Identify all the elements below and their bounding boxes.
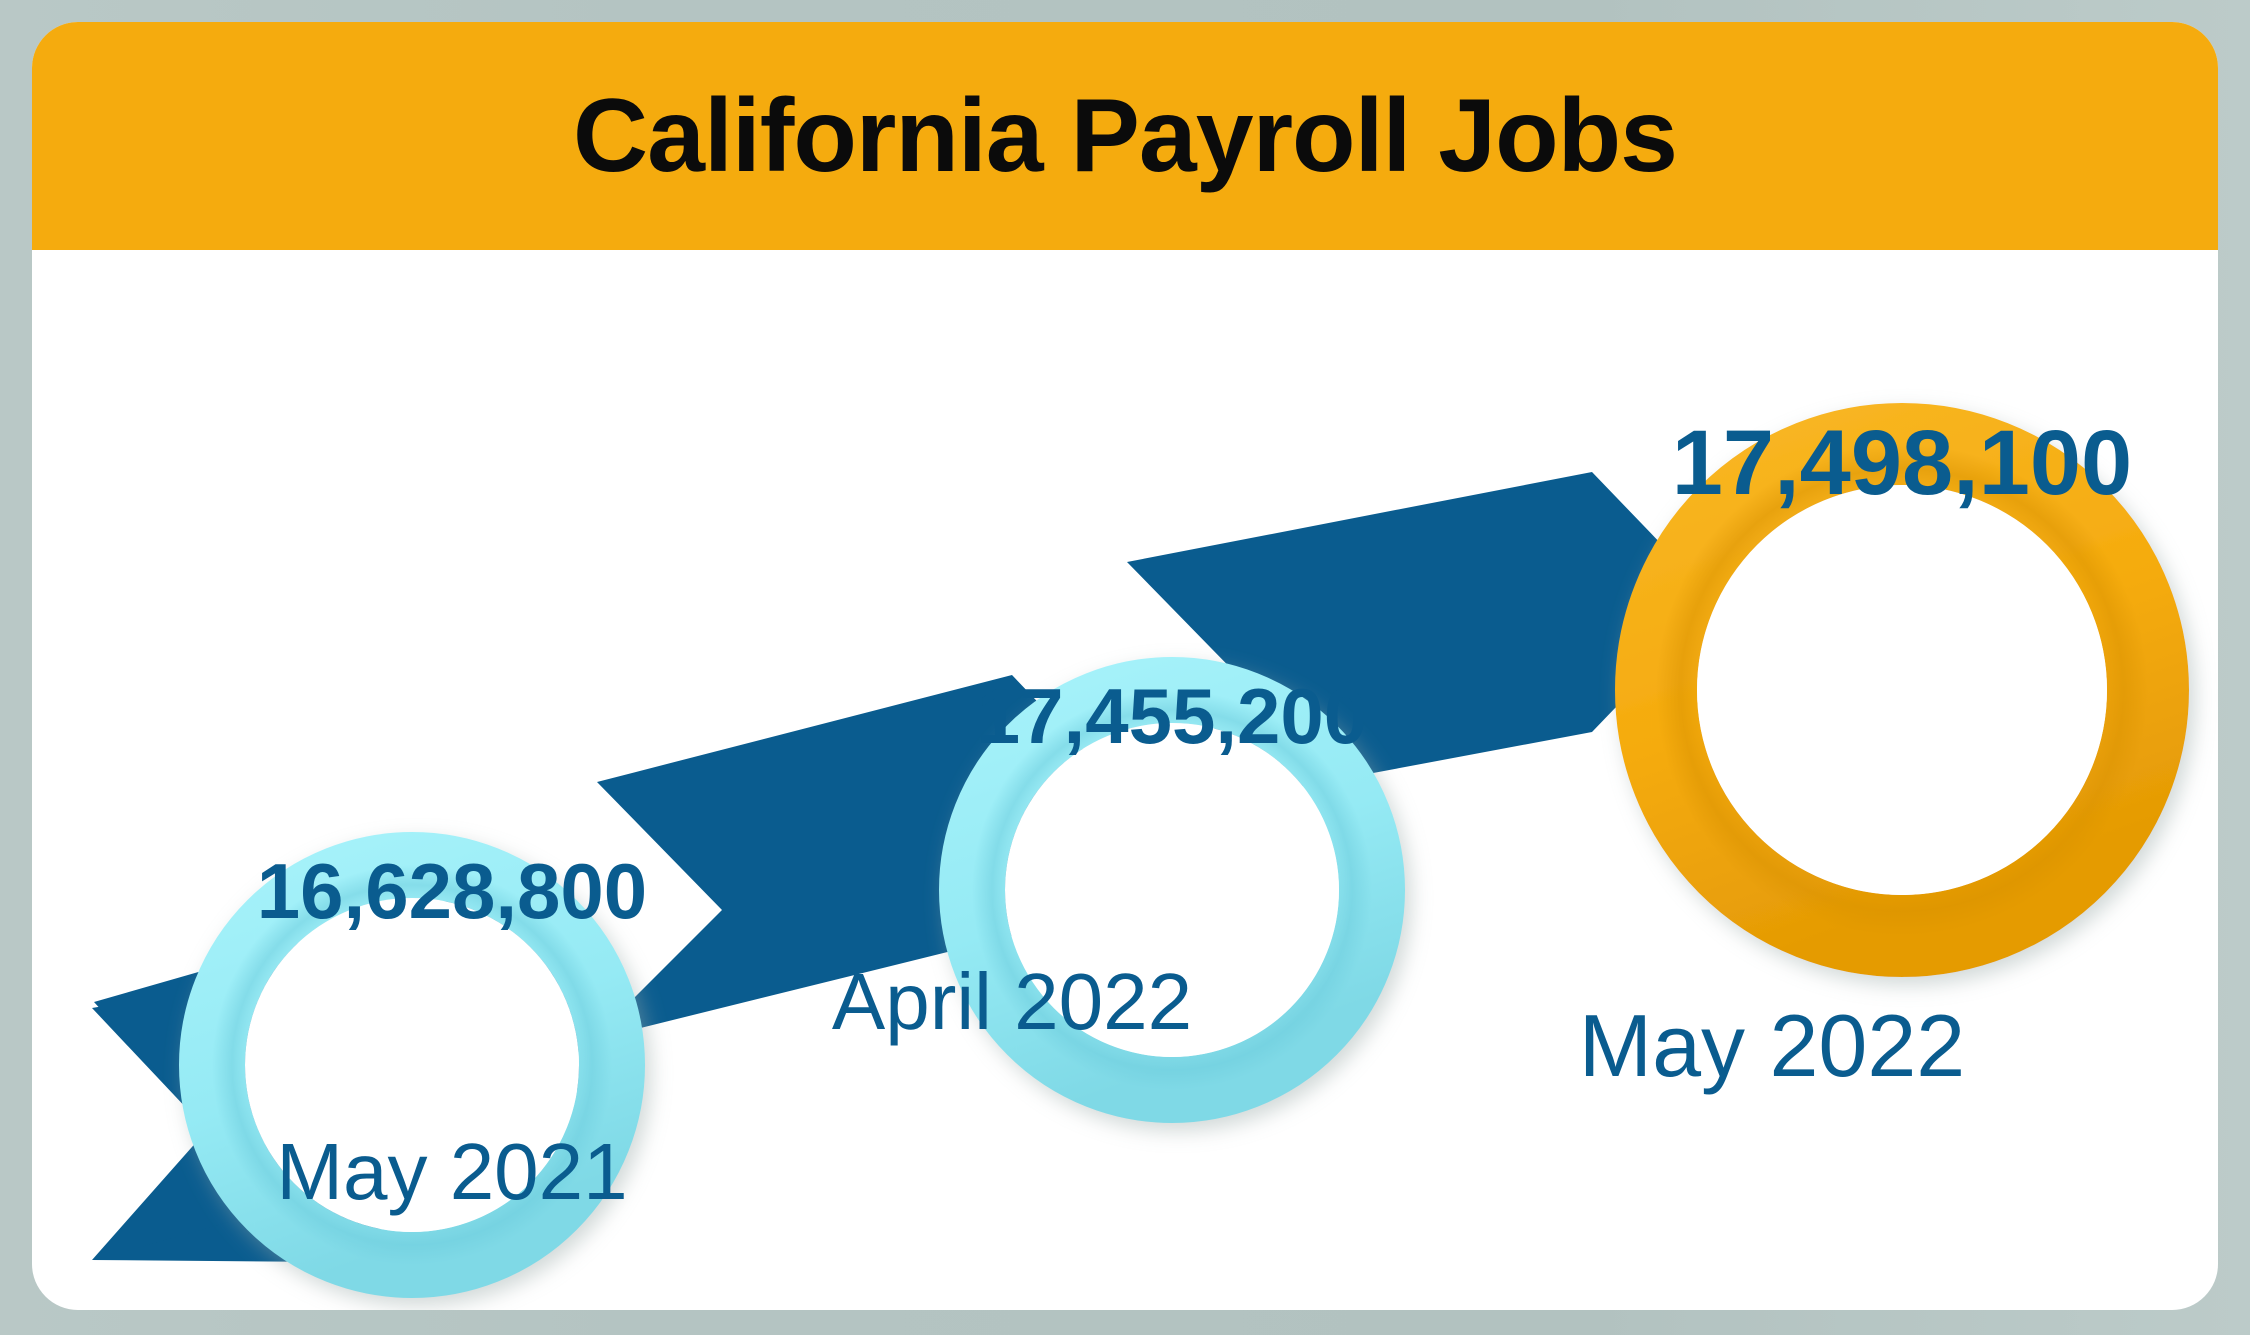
step-value-april-2022: 17,455,200 [912,677,1432,755]
infographic-card: California Payroll Jobs [32,22,2218,1310]
step-value-may-2022: 17,498,100 [1592,417,2212,509]
step-value-may-2021: 16,628,800 [192,852,712,930]
step-caption-may-2021: May 2021 [172,1132,732,1212]
header-bar: California Payroll Jobs [32,22,2218,250]
step-circle-may-2022-fill [1697,485,2107,895]
step-caption-may-2022: May 2022 [1452,1002,2092,1090]
page-title: California Payroll Jobs [573,84,1677,188]
infographic-stage: California Payroll Jobs [0,0,2250,1335]
step-caption-april-2022: April 2022 [732,962,1292,1042]
